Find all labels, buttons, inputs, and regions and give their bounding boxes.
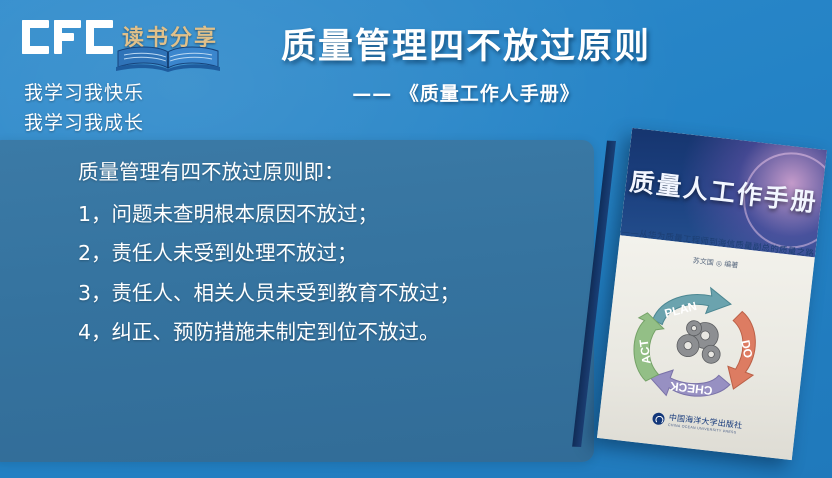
pdca-check-arrow: CHECK [648, 368, 730, 403]
pdca-do-arrow: DO [725, 311, 760, 391]
content-item-1: 1，问题未查明根本原因不放过； [78, 204, 578, 225]
pdca-cycle-diagram: PLAN DO CHECK ACT [624, 277, 789, 413]
content-item-3: 3，责任人、相关人员未受到教育不放过； [78, 283, 578, 304]
book-cover-photo: 质量人工作手册 ——从华为质量工程师到海信质量副总的质量之路 苏文国 ◎ 编著 … [614, 138, 830, 458]
pdca-do-label: DO [738, 339, 755, 359]
slide-root: 读书分享 我学习我快乐 我学习我成长 质量管理四不放过原则 —— 《质量工作人手… [0, 0, 832, 478]
pdca-act-label: ACT [637, 338, 654, 365]
content-intro-line: 质量管理有四不放过原则即： [78, 162, 578, 183]
tfc-logo-letter-f [54, 20, 81, 54]
open-book-icon [114, 46, 222, 72]
slogan-line-1: 我学习我快乐 [24, 78, 144, 105]
pdca-check-label: CHECK [669, 379, 713, 398]
content-item-2: 2，责任人未受到处理不放过； [78, 243, 578, 264]
publisher-mark-icon [652, 412, 665, 425]
page-title: 质量管理四不放过原则 [236, 18, 696, 69]
content-text-block: 质量管理有四不放过原则即： 1，问题未查明根本原因不放过； 2，责任人未受到处理… [78, 162, 578, 343]
content-item-4: 4，纠正、预防措施未制定到位不放过。 [78, 322, 578, 343]
gears-icon [675, 319, 723, 364]
tfc-logo [22, 20, 114, 54]
brand-block: 读书分享 我学习我快乐 我学习我成长 [18, 16, 228, 128]
logo-bar [54, 33, 74, 41]
slide-header: 读书分享 我学习我快乐 我学习我成长 质量管理四不放过原则 —— 《质量工作人手… [0, 0, 832, 140]
logo-bar [86, 46, 113, 54]
book-cover: 质量人工作手册 ——从华为质量工程师到海信质量副总的质量之路 苏文国 ◎ 编著 … [597, 128, 827, 460]
page-subtitle: —— 《质量工作人手册》 [236, 79, 696, 106]
tfc-logo-letter-c1 [22, 20, 49, 54]
slogan-line-2: 我学习我成长 [24, 108, 144, 135]
content-panel: 质量管理有四不放过原则即： 1，问题未查明根本原因不放过； 2，责任人未受到处理… [0, 140, 594, 462]
title-block: 质量管理四不放过原则 —— 《质量工作人手册》 [236, 18, 696, 106]
tfc-logo-letter-c2 [86, 20, 113, 54]
logo-bar [22, 46, 49, 54]
